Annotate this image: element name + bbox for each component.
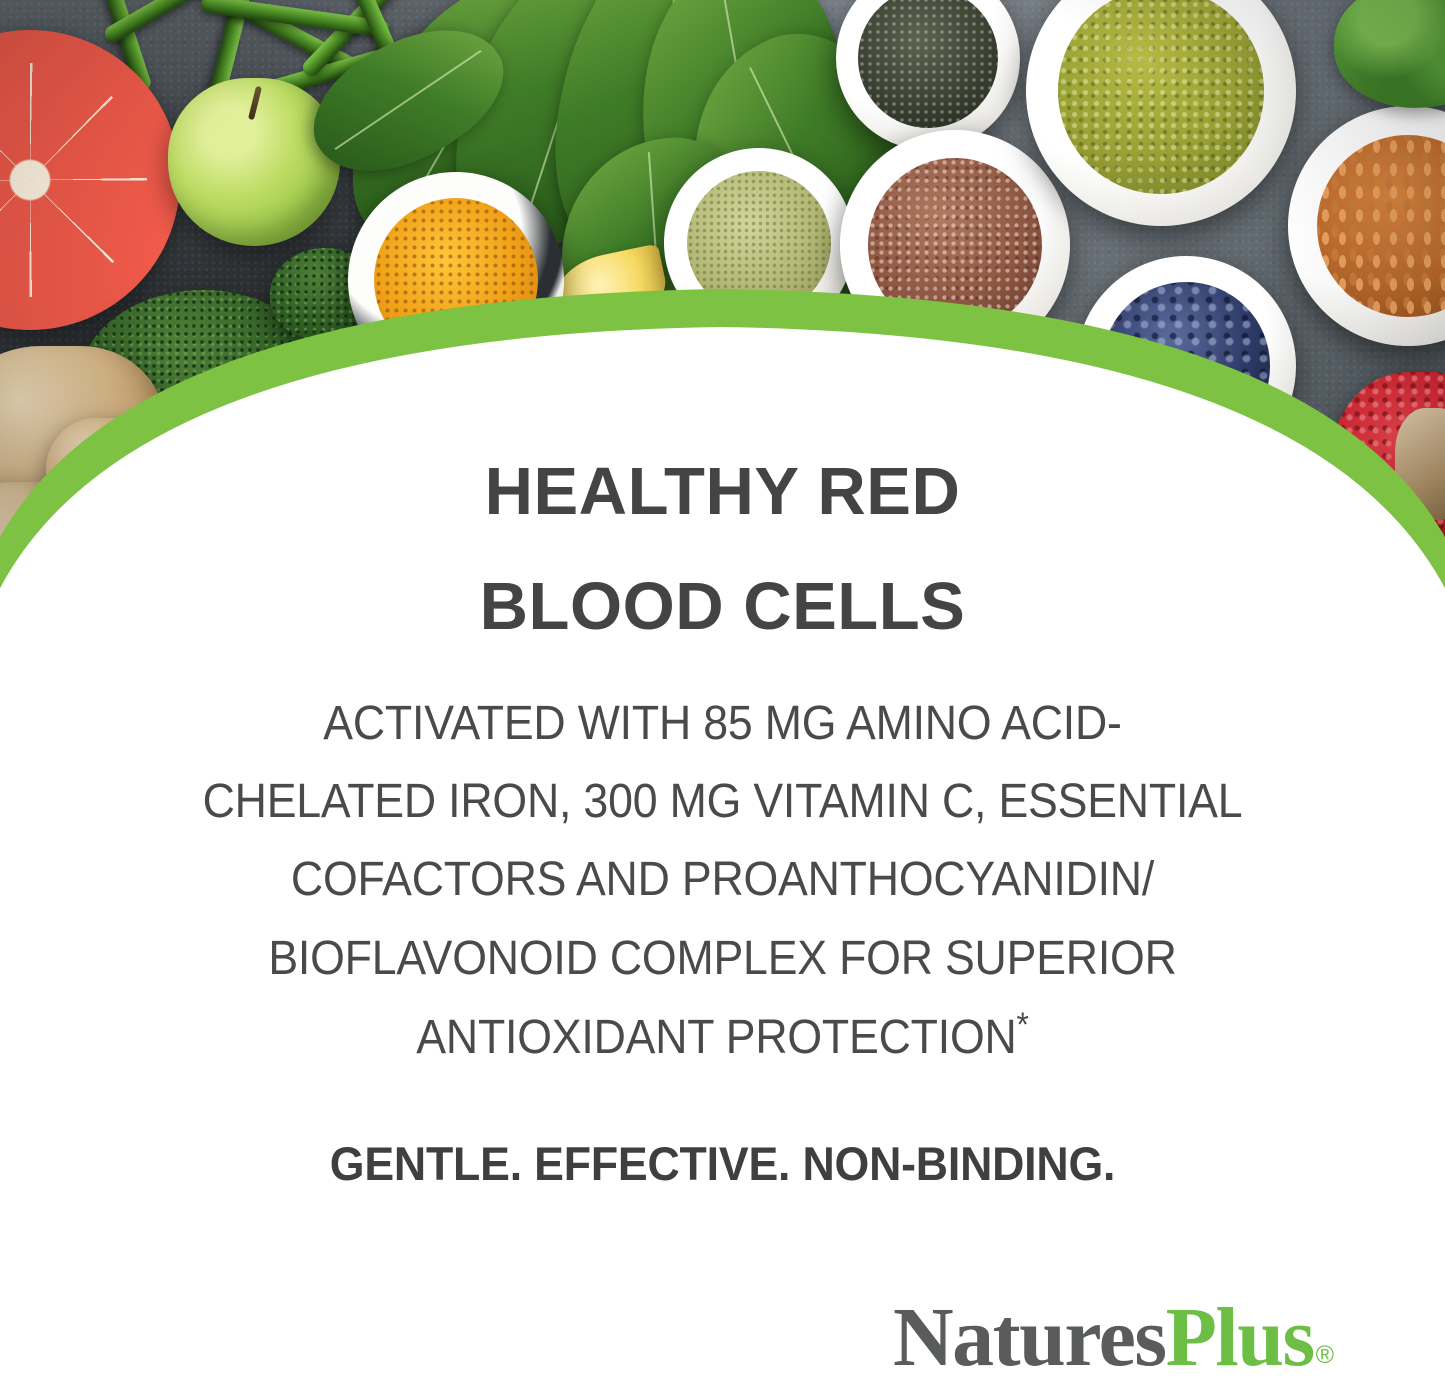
registered-trademark-icon: ® [1316,1341,1333,1369]
card-content: HEALTHY RED BLOOD CELLS ACTIVATED WITH 8… [0,0,1445,1378]
page-title: HEALTHY RED BLOOD CELLS [0,434,1445,664]
headline-line-2: BLOOD CELLS [0,549,1445,664]
description-line-2: CHELATED IRON, 300 MG VITAMIN C, ESSENTI… [106,763,1338,841]
logo-text-plus: Plus [1166,1291,1314,1378]
logo-text-natures: Natures [893,1291,1166,1378]
naturesplus-logo: NaturesPlus® [893,1296,1331,1378]
description-line-5-text: ANTIOXIDANT PROTECTION [416,1011,1016,1064]
description-line-5: ANTIOXIDANT PROTECTION* [106,998,1338,1077]
headline-line-1: HEALTHY RED [0,434,1445,549]
product-tagline: GENTLE. EFFECTIVE. NON-BINDING. [36,1136,1409,1191]
product-description: ACTIVATED WITH 85 MG AMINO ACID- CHELATE… [106,685,1338,1077]
product-feature-card: HEALTHY RED BLOOD CELLS ACTIVATED WITH 8… [0,0,1445,1378]
description-line-4: BIOFLAVONOID COMPLEX FOR SUPERIOR [106,920,1338,998]
footnote-marker: * [1017,1006,1029,1044]
description-line-3: COFACTORS AND PROANTHOCYANIDIN/ [106,841,1338,919]
description-line-1: ACTIVATED WITH 85 MG AMINO ACID- [106,685,1338,763]
